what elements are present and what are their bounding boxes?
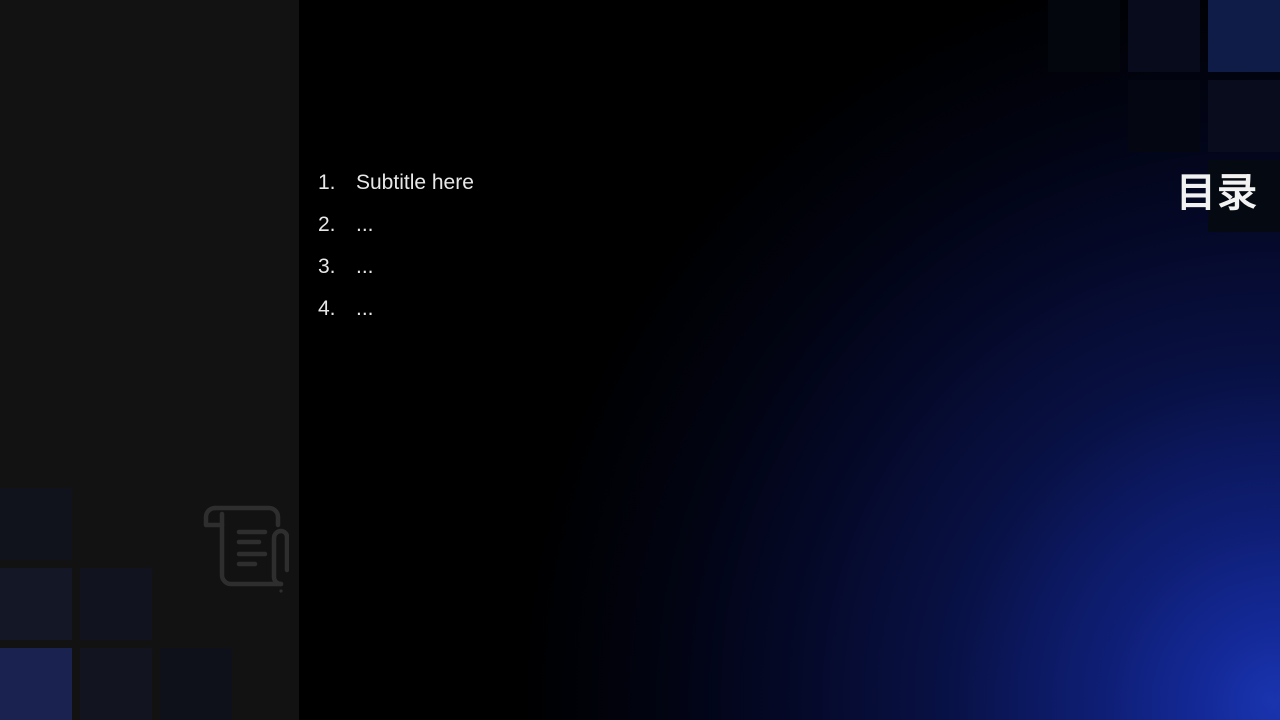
decor-square xyxy=(1208,80,1280,152)
decor-square xyxy=(0,568,72,640)
decor-square xyxy=(0,648,72,720)
list-item[interactable]: 3. ... xyxy=(318,256,474,298)
decor-square xyxy=(0,488,72,560)
list-item-number: 2. xyxy=(318,214,356,235)
decor-square xyxy=(80,648,152,720)
list-item-label: ... xyxy=(356,214,374,235)
decor-square xyxy=(1208,0,1280,72)
decor-square xyxy=(1128,0,1200,72)
presentation-slide: 目录 1. Subtitle here 2. ... 3. ... 4. ... xyxy=(0,0,1280,720)
decor-square xyxy=(80,568,152,640)
page-title: 目录 xyxy=(998,173,1258,213)
decor-square xyxy=(1128,80,1200,152)
list-item[interactable]: 2. ... xyxy=(318,214,474,256)
decor-square xyxy=(160,648,232,720)
list-item-label: ... xyxy=(356,298,374,319)
list-item-number: 1. xyxy=(318,172,356,193)
table-of-contents-list: 1. Subtitle here 2. ... 3. ... 4. ... xyxy=(318,172,474,340)
list-item-number: 4. xyxy=(318,298,356,319)
scroll-document-icon xyxy=(193,492,289,596)
decor-square xyxy=(1048,0,1120,72)
list-item-label: ... xyxy=(356,256,374,277)
list-item[interactable]: 1. Subtitle here xyxy=(318,172,474,214)
list-item-label: Subtitle here xyxy=(356,172,474,193)
list-item[interactable]: 4. ... xyxy=(318,298,474,340)
list-item-number: 3. xyxy=(318,256,356,277)
